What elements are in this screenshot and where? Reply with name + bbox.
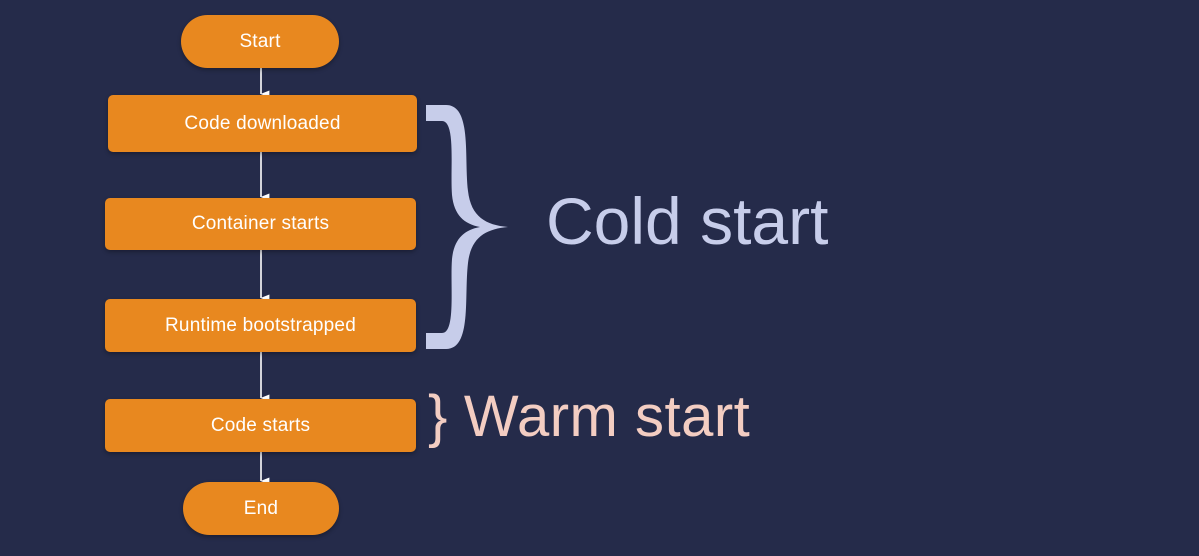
- node-start[interactable]: Start: [181, 15, 339, 68]
- node-code-downloaded-label: Code downloaded: [184, 113, 340, 135]
- node-end[interactable]: End: [183, 482, 339, 535]
- node-code-downloaded[interactable]: Code downloaded: [108, 95, 417, 152]
- node-code-starts-label: Code starts: [211, 415, 310, 437]
- diagram-canvas: Start Code downloaded Container starts R…: [0, 0, 1199, 556]
- cold-start-brace-icon: [424, 99, 536, 357]
- cold-start-label: Cold start: [546, 188, 828, 254]
- warm-start-label: Warm start: [464, 384, 750, 449]
- node-container-starts-label: Container starts: [192, 213, 329, 235]
- node-code-starts[interactable]: Code starts: [105, 399, 416, 452]
- warm-start-brace-icon: }: [428, 388, 448, 446]
- warm-start-annotation: }Warm start: [428, 388, 750, 446]
- node-container-starts[interactable]: Container starts: [105, 198, 416, 250]
- node-runtime-bootstrapped[interactable]: Runtime bootstrapped: [105, 299, 416, 352]
- flow-connectors: [0, 0, 1199, 556]
- node-runtime-bootstrapped-label: Runtime bootstrapped: [165, 315, 356, 337]
- node-end-label: End: [244, 498, 278, 520]
- node-start-label: Start: [239, 31, 280, 53]
